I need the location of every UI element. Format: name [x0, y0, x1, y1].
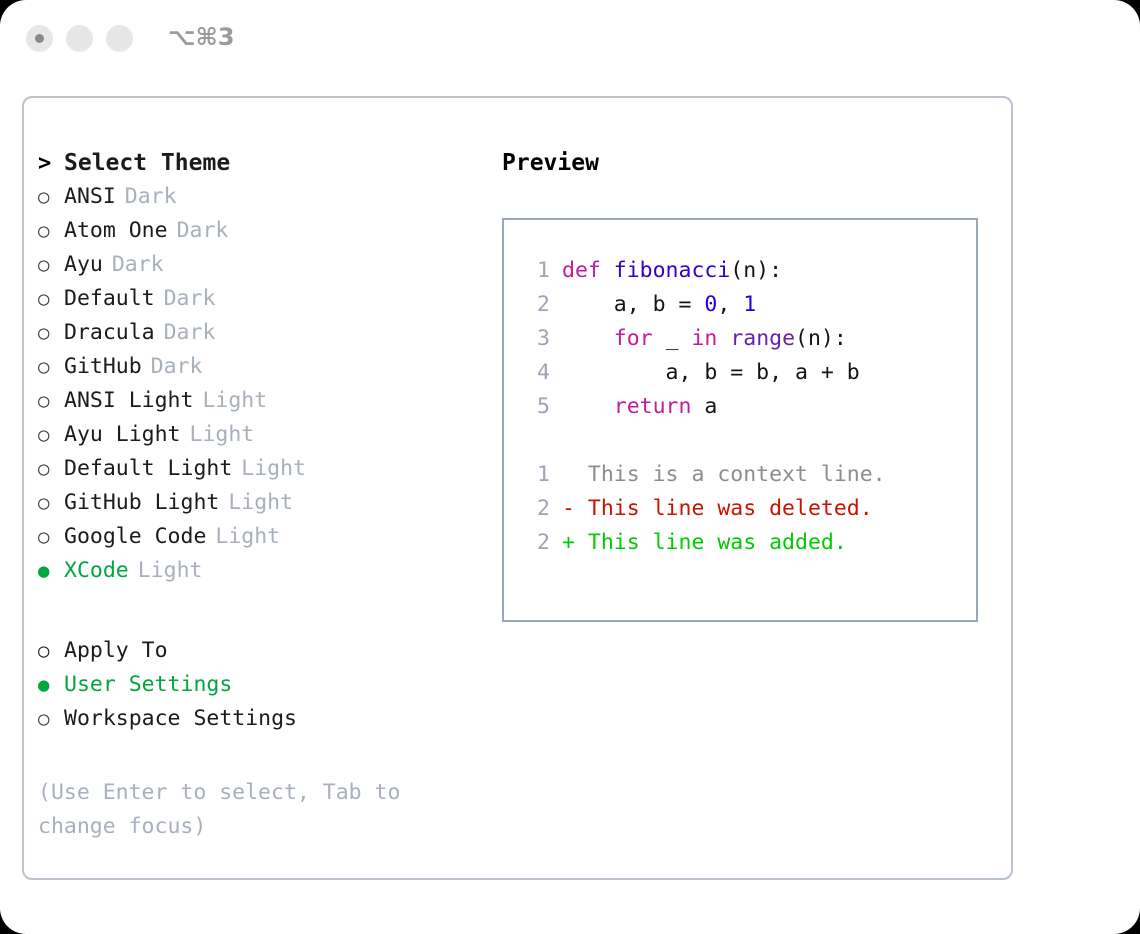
theme-variant-tag: Dark — [125, 184, 177, 209]
theme-list-item[interactable]: ○Default LightLight — [38, 452, 488, 486]
code-token: + This line was added. — [562, 530, 847, 555]
apply-to-item[interactable]: ○Workspace Settings — [38, 702, 488, 736]
code-token: - This line was deleted. — [562, 496, 873, 521]
theme-list-item[interactable]: ○ANSI LightLight — [38, 384, 488, 418]
theme-name: Ayu Light — [64, 422, 181, 447]
theme-name: Default Light — [64, 456, 232, 481]
apply-to-header: ○Apply To — [38, 634, 488, 668]
select-theme-header: >Select Theme — [38, 146, 488, 180]
theme-list-item[interactable]: ○Google CodeLight — [38, 520, 488, 554]
code-blank-line — [504, 424, 976, 458]
code-token — [562, 394, 614, 419]
line-number: 4 — [504, 356, 562, 390]
diff-sample: 1 This is a context line.2- This line wa… — [504, 458, 976, 560]
theme-variant-tag: Dark — [151, 354, 203, 379]
line-number: 2 — [504, 526, 562, 560]
code-token — [717, 326, 730, 351]
line-number: 1 — [504, 254, 562, 288]
traffic-light-minimize-icon[interactable] — [66, 25, 93, 52]
line-number: 2 — [504, 492, 562, 526]
keyboard-shortcut-label: ⌥⌘3 — [168, 23, 235, 51]
diff-line: 1 This is a context line. — [504, 458, 976, 492]
radio-unselected-icon: ○ — [38, 350, 64, 384]
theme-variant-tag: Light — [215, 524, 280, 549]
code-token: a, b = b, a + b — [562, 360, 860, 385]
code-token: return — [614, 394, 692, 419]
theme-panel: >Select Theme ○ANSIDark○Atom OneDark○Ayu… — [38, 146, 488, 844]
theme-variant-tag: Light — [138, 558, 203, 583]
theme-list-item[interactable]: ○GitHub LightLight — [38, 486, 488, 520]
theme-variant-tag: Dark — [177, 218, 229, 243]
theme-variant-tag: Light — [190, 422, 255, 447]
line-number: 1 — [504, 458, 562, 492]
line-number: 3 — [504, 322, 562, 356]
theme-name: Dracula — [64, 320, 155, 345]
select-theme-title: Select Theme — [64, 150, 230, 176]
code-token: in — [691, 326, 717, 351]
theme-name: GitHub — [64, 354, 142, 379]
apply-to-list: ●User Settings○Workspace Settings — [38, 668, 488, 736]
radio-unselected-icon: ○ — [38, 248, 64, 282]
theme-name: XCode — [64, 558, 129, 583]
theme-list-item[interactable]: ○ANSIDark — [38, 180, 488, 214]
theme-list-item[interactable]: ○DraculaDark — [38, 316, 488, 350]
app-window: ⌥⌘3 >Select Theme ○ANSIDark○Atom OneDark… — [0, 0, 1140, 934]
code-token: a, b = — [562, 292, 704, 317]
theme-name: ANSI — [64, 184, 116, 209]
theme-list-item[interactable]: ○DefaultDark — [38, 282, 488, 316]
theme-list-item[interactable]: ○Ayu LightLight — [38, 418, 488, 452]
radio-unselected-icon: ○ — [38, 384, 64, 418]
apply-to-title: Apply To — [64, 638, 168, 663]
theme-list: ○ANSIDark○Atom OneDark○AyuDark○DefaultDa… — [38, 180, 488, 588]
radio-unselected-icon: ○ — [38, 520, 64, 554]
traffic-light-active-indicator — [35, 34, 44, 43]
theme-list-item[interactable]: ○Atom OneDark — [38, 214, 488, 248]
theme-name: ANSI Light — [64, 388, 193, 413]
code-preview-box: 1def fibonacci(n):2 a, b = 0, 13 for _ i… — [502, 218, 978, 622]
code-token: This is a context line. — [562, 462, 886, 487]
theme-list-item[interactable]: ○GitHubDark — [38, 350, 488, 384]
code-line: 3 for _ in range(n): — [504, 322, 976, 356]
theme-name: Atom One — [64, 218, 168, 243]
radio-selected-icon: ● — [38, 668, 64, 702]
code-line: 4 a, b = b, a + b — [504, 356, 976, 390]
line-number: 5 — [504, 390, 562, 424]
code-token: _ — [653, 326, 692, 351]
line-number: 2 — [504, 288, 562, 322]
code-sample: 1def fibonacci(n):2 a, b = 0, 13 for _ i… — [504, 254, 976, 424]
code-token: (n): — [795, 326, 847, 351]
theme-variant-tag: Dark — [164, 286, 216, 311]
theme-name: Ayu — [64, 252, 103, 277]
code-line: 1def fibonacci(n): — [504, 254, 976, 288]
radio-unselected-icon: ○ — [38, 214, 64, 248]
radio-unselected-icon: ○ — [38, 418, 64, 452]
code-line: 2 a, b = 0, 1 — [504, 288, 976, 322]
apply-to-label: Workspace Settings — [64, 706, 297, 731]
theme-list-item[interactable]: ○AyuDark — [38, 248, 488, 282]
theme-variant-tag: Dark — [112, 252, 164, 277]
radio-unselected-icon: ○ — [38, 316, 64, 350]
theme-name: GitHub Light — [64, 490, 219, 515]
apply-to-marker-placeholder: ○ — [38, 634, 64, 668]
apply-to-label: User Settings — [64, 672, 232, 697]
radio-selected-icon: ● — [38, 554, 64, 588]
radio-unselected-icon: ○ — [38, 282, 64, 316]
section-spacer — [38, 588, 488, 634]
prompt-caret-icon: > — [38, 147, 64, 181]
theme-name: Default — [64, 286, 155, 311]
radio-unselected-icon: ○ — [38, 180, 64, 214]
traffic-light-close-icon[interactable] — [26, 25, 53, 52]
code-token: range — [730, 326, 795, 351]
code-token: def — [562, 258, 614, 283]
radio-unselected-icon: ○ — [38, 702, 64, 736]
theme-variant-tag: Light — [241, 456, 306, 481]
preview-title: Preview — [502, 146, 992, 180]
main-card: >Select Theme ○ANSIDark○Atom OneDark○Ayu… — [22, 96, 1013, 880]
diff-line: 2- This line was deleted. — [504, 492, 976, 526]
diff-line: 2+ This line was added. — [504, 526, 976, 560]
code-token: fibonacci — [614, 258, 731, 283]
theme-list-item[interactable]: ●XCodeLight — [38, 554, 488, 588]
code-token: (n): — [730, 258, 782, 283]
title-bar: ⌥⌘3 — [0, 0, 1140, 78]
theme-variant-tag: Light — [228, 490, 293, 515]
code-token: , — [717, 292, 743, 317]
code-line: 5 return a — [504, 390, 976, 424]
preview-panel: Preview 1def fibonacci(n):2 a, b = 0, 13… — [502, 146, 992, 622]
code-token: 1 — [743, 292, 756, 317]
traffic-light-zoom-icon[interactable] — [106, 25, 133, 52]
radio-unselected-icon: ○ — [38, 452, 64, 486]
theme-variant-tag: Light — [202, 388, 267, 413]
code-token: a — [691, 394, 717, 419]
radio-unselected-icon: ○ — [38, 486, 64, 520]
code-token: 0 — [704, 292, 717, 317]
keyboard-hint: (Use Enter to select, Tab to change focu… — [38, 776, 438, 844]
apply-to-item[interactable]: ●User Settings — [38, 668, 488, 702]
theme-name: Google Code — [64, 524, 206, 549]
code-token — [562, 326, 614, 351]
code-token: for — [614, 326, 653, 351]
theme-variant-tag: Dark — [164, 320, 216, 345]
